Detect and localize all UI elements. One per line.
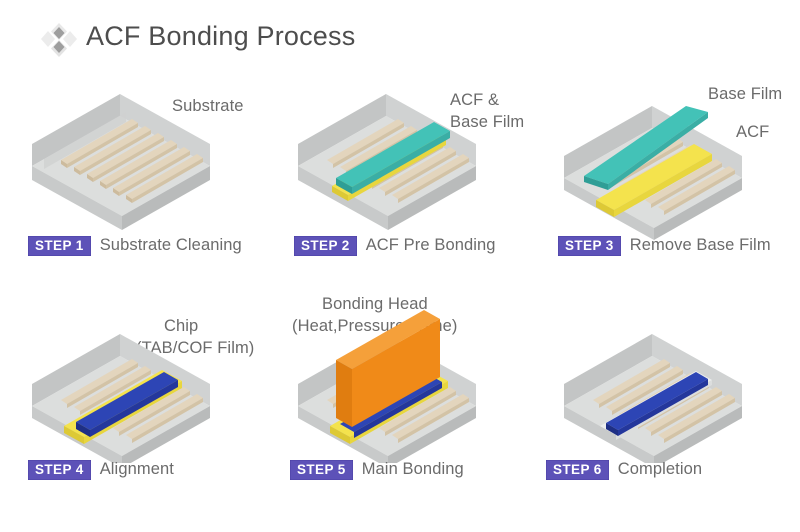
step-3-illustration (536, 68, 800, 243)
step-6-name: Completion (618, 460, 702, 479)
step-5-illustration (270, 288, 536, 463)
step-6-illustration (536, 288, 800, 463)
step-4-name: Alignment (100, 460, 174, 479)
step-4-cell: Chip (TAB/COF Film) (4, 288, 270, 508)
step-1-illustration (4, 68, 270, 243)
step-2-badge: STEP 2 (294, 236, 357, 256)
step-5-badge: STEP 5 (290, 460, 353, 480)
step-3-badge: STEP 3 (558, 236, 621, 256)
acf-bonding-process-diagram: ACF Bonding Process Substrate (0, 0, 800, 532)
step-5-cell: Bonding Head (Heat,Pressure&Time) (270, 288, 536, 508)
step-5-name: Main Bonding (362, 460, 464, 479)
step-6-badge: STEP 6 (546, 460, 609, 480)
step-1-badge: STEP 1 (28, 236, 91, 256)
header: ACF Bonding Process (0, 0, 800, 70)
step-1-name: Substrate Cleaning (100, 236, 242, 255)
step-3-cell: Base Film ACF (536, 68, 800, 288)
step-3-name: Remove Base Film (630, 236, 771, 255)
step-2-illustration (270, 68, 536, 243)
step-6-cell: STEP 6 Completion (536, 288, 800, 508)
step-4-badge: STEP 4 (28, 460, 91, 480)
step-4-label: STEP 4 Alignment (28, 460, 174, 480)
step-4-illustration (4, 288, 270, 463)
step-3-label: STEP 3 Remove Base Film (558, 236, 771, 256)
step-2-cell: ACF & Base Film (270, 68, 536, 288)
step-5-label: STEP 5 Main Bonding (290, 460, 464, 480)
step-2-label: STEP 2 ACF Pre Bonding (294, 236, 496, 256)
step-1-label: STEP 1 Substrate Cleaning (28, 236, 242, 256)
step-2-name: ACF Pre Bonding (366, 236, 496, 255)
step-1-cell: Substrate (4, 68, 270, 288)
step-6-label: STEP 6 Completion (546, 460, 702, 480)
four-diamonds-icon (40, 22, 78, 58)
page-title: ACF Bonding Process (86, 21, 355, 52)
